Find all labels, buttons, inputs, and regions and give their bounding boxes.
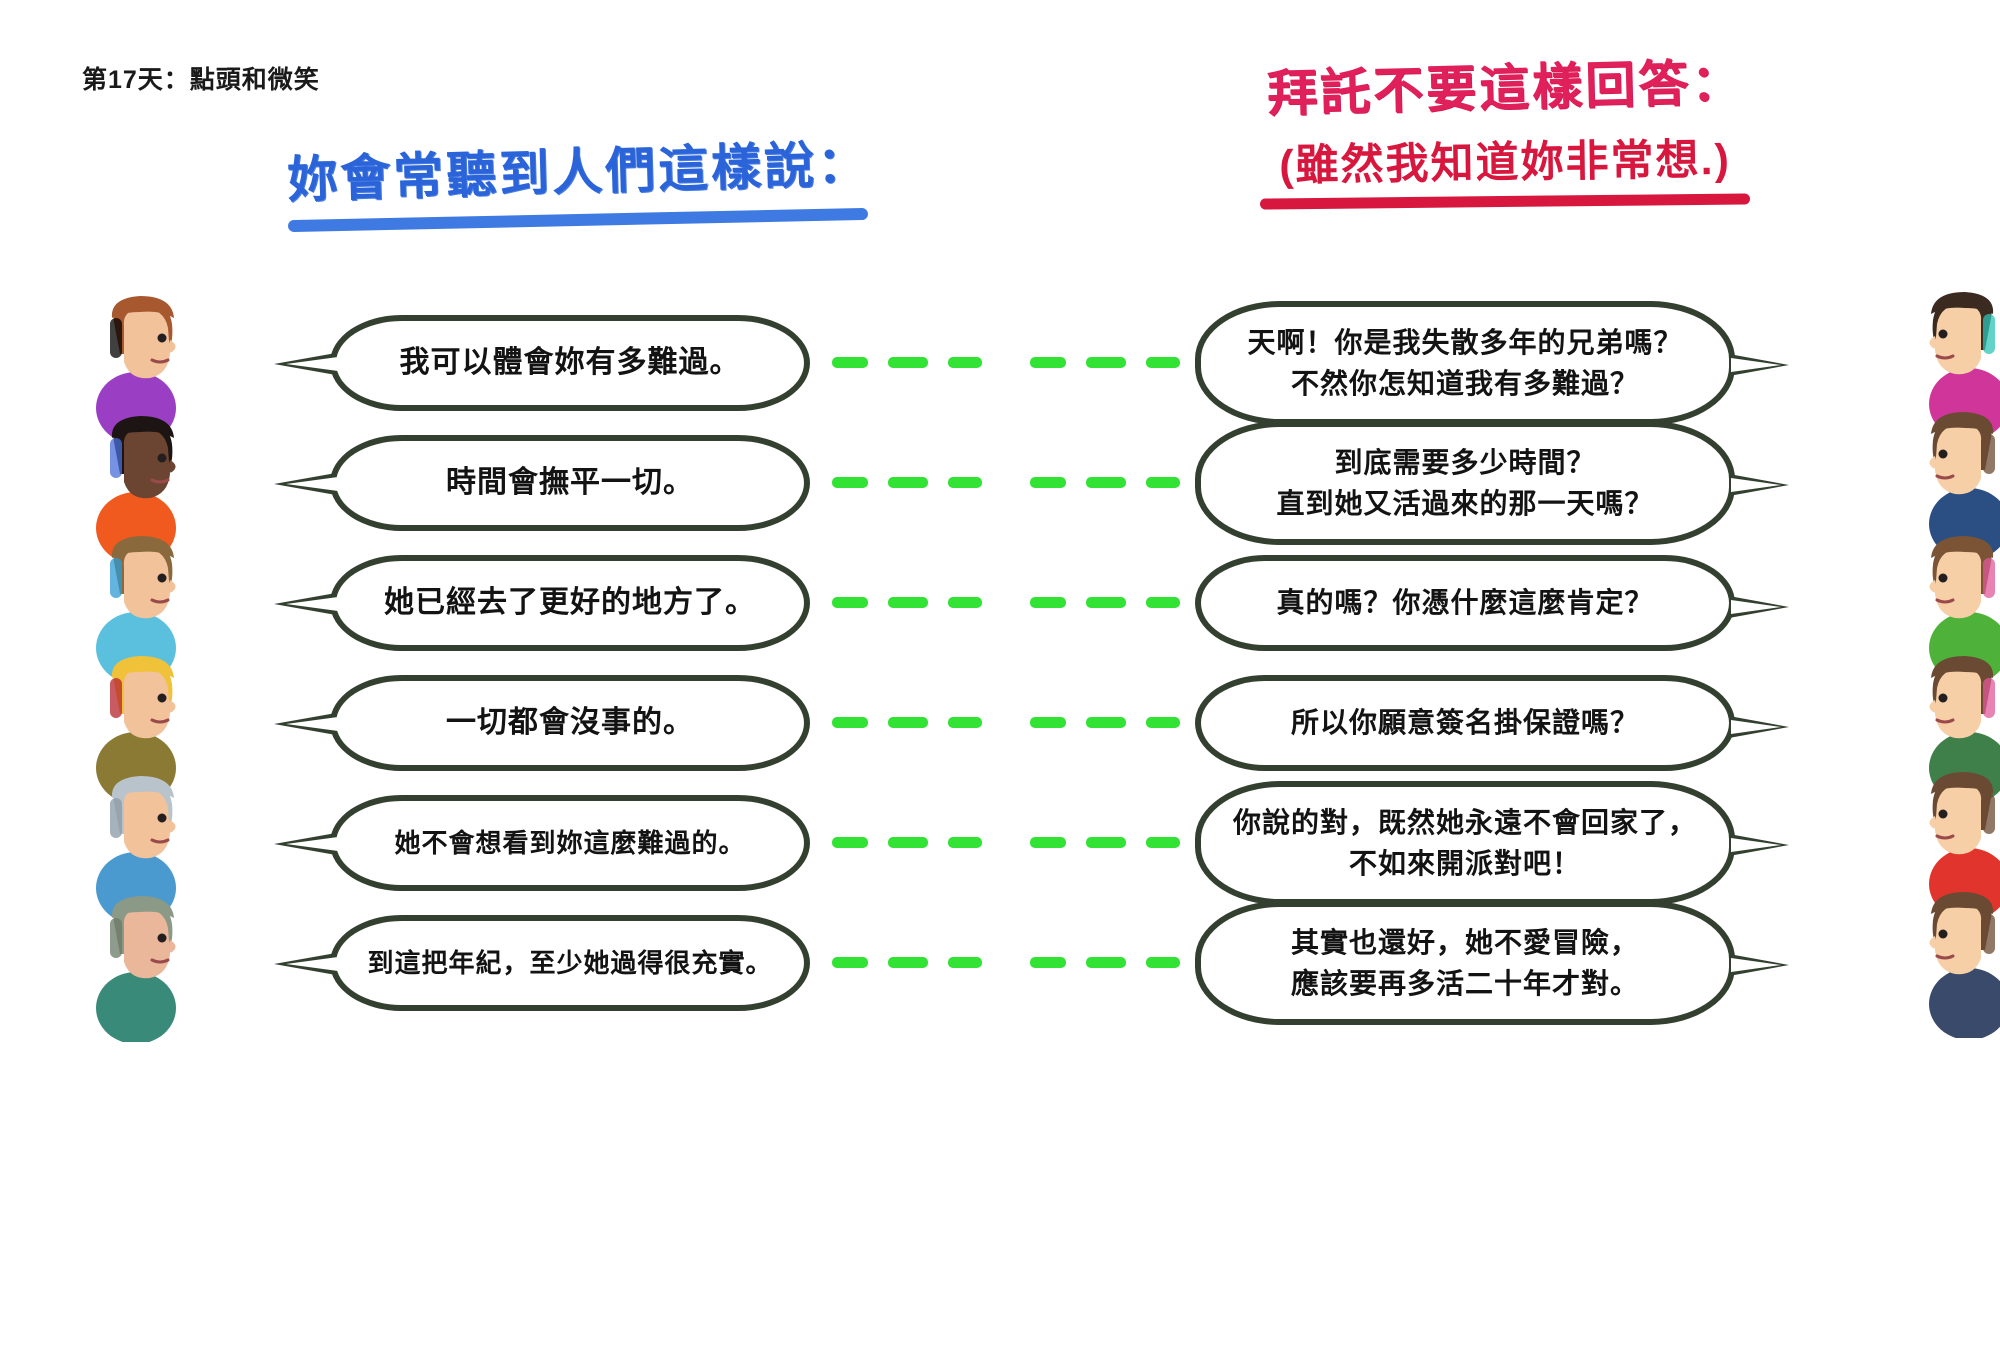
connector-dashes-right	[1030, 357, 1180, 368]
right-quote-text: 真的嗎？你憑什麼這麼肯定？	[1250, 578, 1679, 627]
connector-dashes-left	[832, 717, 982, 728]
speech-bubble-right: 你說的對，既然她永遠不會回家了，不如來開派對吧！	[1195, 781, 1735, 905]
speech-bubble-left: 到這把年紀，至少她過得很充實。	[330, 915, 810, 1011]
speech-bubble-left: 她已經去了更好的地方了。	[330, 555, 810, 651]
right-quote-text: 你說的對，既然她永遠不會回家了，不如來開派對吧！	[1207, 798, 1723, 889]
left-column-heading: 妳會常聽到人們這樣說：	[278, 132, 878, 226]
bubble-tail-right-icon	[1729, 834, 1789, 856]
right-quote-text: 所以你願意簽名掛保證嗎？	[1265, 698, 1665, 747]
speech-bubble-right: 真的嗎？你憑什麼這麼肯定？	[1195, 555, 1735, 651]
dialogue-row: 到這把年紀，至少她過得很充實。 其實也還好，她不愛冒險，應該要再多活二十年才對。	[0, 888, 2000, 1038]
connector-dashes-left	[832, 477, 982, 488]
speech-bubble-left: 一切都會沒事的。	[330, 675, 810, 771]
right-heading-line2: (雖然我知道妳非常想.)	[1245, 124, 1766, 193]
connector-dashes-right	[1030, 597, 1180, 608]
connector-dashes-right	[1030, 717, 1180, 728]
speech-bubble-right: 天啊！你是我失散多年的兄弟嗎？不然你怎知道我有多難過？	[1195, 301, 1735, 425]
left-quote-text: 一切都會沒事的。	[420, 697, 720, 749]
bubble-tail-left-icon	[274, 833, 336, 855]
speech-bubble-right: 所以你願意簽名掛保證嗎？	[1195, 675, 1735, 771]
connector-dashes-left	[832, 837, 982, 848]
comic-page: 第17天：點頭和微笑 妳會常聽到人們這樣說： 拜託不要這樣回答： (雖然我知道妳…	[0, 0, 2000, 1345]
left-quote-text: 時間會撫平一切。	[420, 457, 720, 509]
connector-dashes-right	[1030, 957, 1180, 968]
right-heading-line1: 拜託不要這樣回答：	[1266, 42, 1745, 126]
avatar-left-5	[80, 892, 200, 1042]
right-quote-text: 其實也還好，她不愛冒險，應該要再多活二十年才對。	[1265, 918, 1665, 1009]
left-quote-text: 到這把年紀，至少她過得很充實。	[341, 940, 798, 986]
speech-bubble-right: 到底需要多少時間？直到她又活過來的那一天嗎？	[1195, 421, 1735, 545]
connector-dashes-left	[832, 597, 982, 608]
connector-dashes-left	[832, 957, 982, 968]
speech-bubble-left: 時間會撫平一切。	[330, 435, 810, 531]
connector-dashes-right	[1030, 837, 1180, 848]
bubble-tail-right-icon	[1729, 716, 1789, 738]
bubble-tail-right-icon	[1729, 474, 1789, 496]
bubble-tail-right-icon	[1729, 596, 1789, 618]
bubble-tail-right-icon	[1729, 954, 1789, 976]
bubble-tail-left-icon	[274, 953, 336, 975]
right-column-heading: 拜託不要這樣回答： (雖然我知道妳非常想.)	[1245, 48, 1765, 207]
connector-dashes-right	[1030, 477, 1180, 488]
bubble-tail-right-icon	[1729, 354, 1789, 376]
right-quote-text: 到底需要多少時間？直到她又活過來的那一天嗎？	[1250, 438, 1679, 529]
speech-bubble-right: 其實也還好，她不愛冒險，應該要再多活二十年才對。	[1195, 901, 1735, 1025]
speech-bubble-left: 她不會想看到妳這麼難過的。	[330, 795, 810, 891]
left-quote-text: 我可以體會妳有多難過。	[374, 337, 767, 389]
left-heading-underline	[288, 208, 868, 232]
connector-dashes-left	[832, 357, 982, 368]
left-heading-text: 妳會常聽到人們這樣說：	[286, 124, 871, 212]
right-quote-text: 天啊！你是我失散多年的兄弟嗎？不然你怎知道我有多難過？	[1221, 318, 1708, 409]
left-quote-text: 她不會想看到妳這麼難過的。	[368, 820, 771, 866]
left-quote-text: 她已經去了更好的地方了。	[358, 577, 782, 629]
page-title: 第17天：點頭和微笑	[82, 60, 320, 96]
bubble-tail-left-icon	[274, 353, 336, 375]
bubble-tail-left-icon	[274, 713, 336, 735]
bubble-tail-left-icon	[274, 593, 336, 615]
speech-bubble-left: 我可以體會妳有多難過。	[330, 315, 810, 411]
avatar-right-5	[1785, 888, 1905, 1038]
right-heading-underline	[1260, 193, 1750, 209]
bubble-tail-left-icon	[274, 473, 336, 495]
